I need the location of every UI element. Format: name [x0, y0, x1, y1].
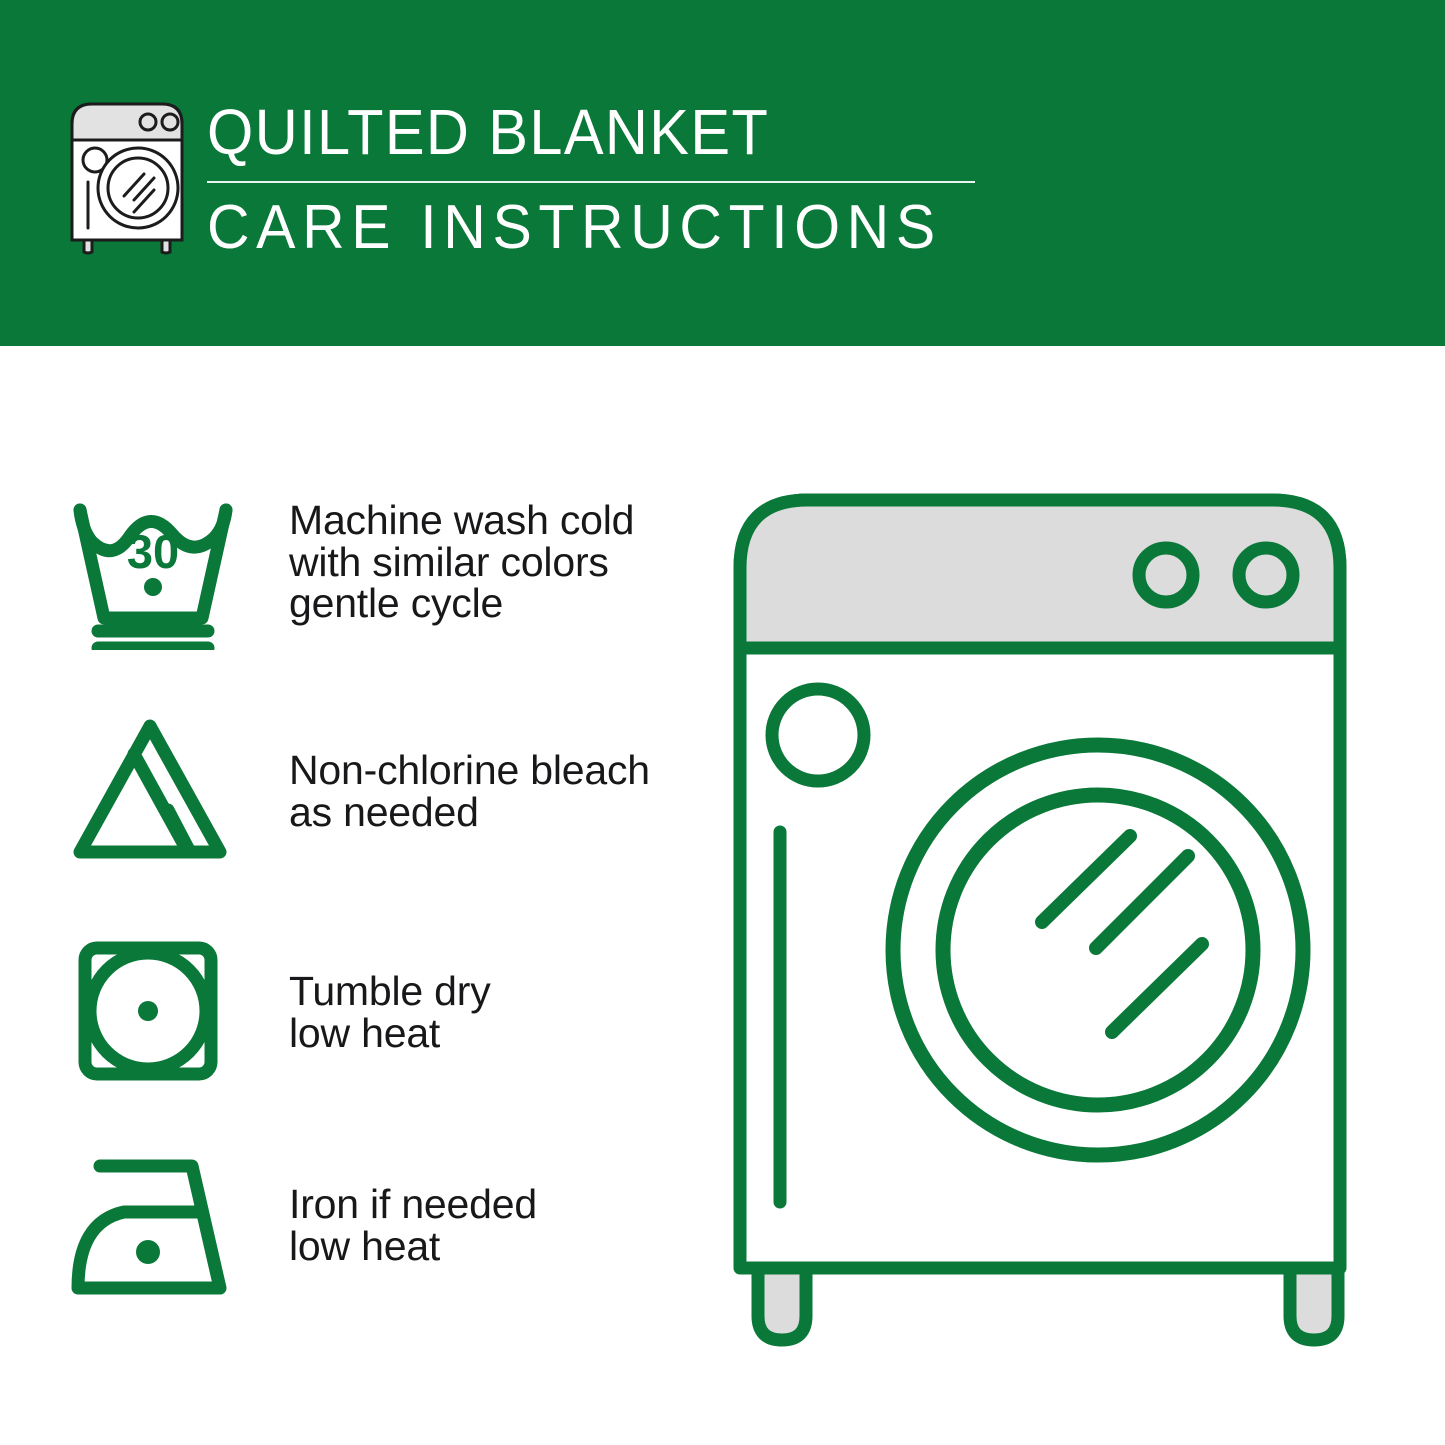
care-row-label: Non-chlorine bleach as needed	[289, 750, 650, 833]
header-title-block: QUILTED BLANKET CARE INSTRUCTIONS	[207, 95, 997, 275]
knob	[1139, 548, 1193, 602]
knob	[1239, 548, 1293, 602]
wash-tub-30-icon: 30	[68, 490, 238, 650]
non-chlorine-bleach-triangle-icon	[68, 714, 238, 874]
header-banner: QUILTED BLANKET CARE INSTRUCTIONS	[0, 0, 1445, 346]
washing-machine-illustration	[700, 450, 1430, 1370]
care-row: 30 Machine wash cold with similar colors…	[0, 490, 700, 660]
care-row: Tumble dry low heat	[0, 936, 700, 1106]
care-row-label: Machine wash cold with similar colors ge…	[289, 500, 634, 625]
detergent-circle	[772, 689, 864, 781]
care-row-label: Iron if needed low heat	[289, 1184, 537, 1267]
care-row: Non-chlorine bleach as needed	[0, 714, 700, 884]
care-row: Iron if needed low heat	[0, 1148, 700, 1318]
page-subtitle: CARE INSTRUCTIONS	[207, 193, 958, 263]
care-instruction-list: 30 Machine wash cold with similar colors…	[0, 346, 700, 1445]
page-title: QUILTED BLANKET	[207, 95, 942, 169]
care-row-label: Tumble dry low heat	[289, 971, 491, 1054]
tumble-dry-low-icon	[68, 936, 238, 1096]
care-instructions-page: QUILTED BLANKET CARE INSTRUCTIONS 30	[0, 0, 1445, 1445]
washing-machine-icon	[62, 96, 192, 256]
iron-low-heat-icon	[68, 1148, 238, 1308]
title-divider	[207, 181, 975, 183]
wash-temperature-value: 30	[127, 525, 179, 578]
